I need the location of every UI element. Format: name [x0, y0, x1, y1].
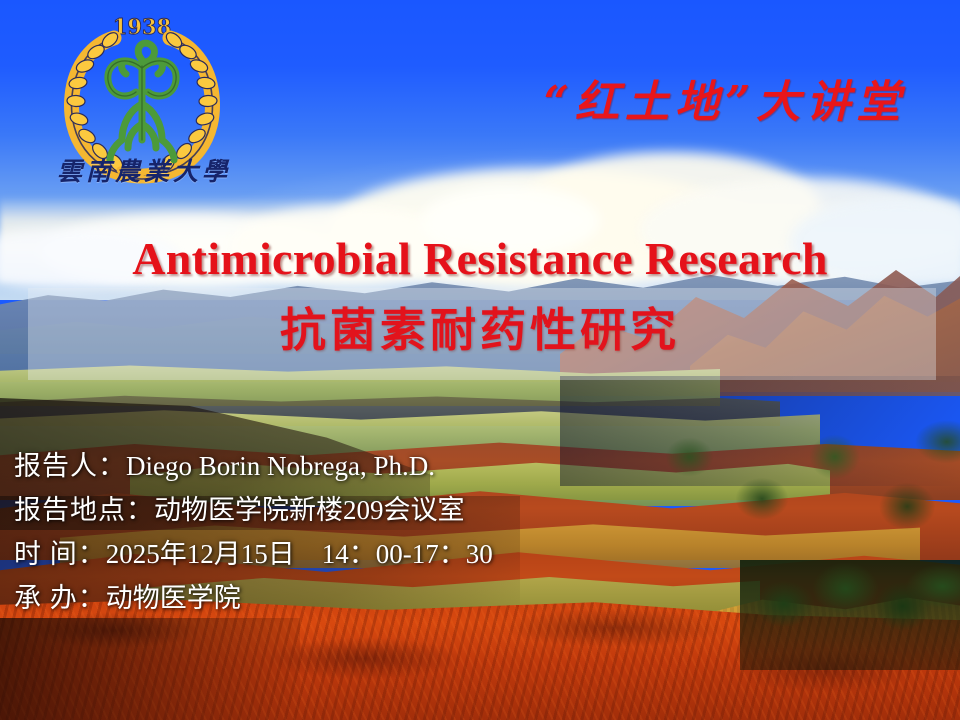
tree-cluster-foreground [740, 560, 960, 670]
university-name-cn: 雲南農業大學 [44, 152, 244, 188]
lecture-series-banner: “红土地”大讲堂 [500, 58, 950, 148]
lecture-poster: 1938 [0, 0, 960, 720]
soil-shadow [0, 618, 300, 720]
detail-label: 承 办： [14, 583, 106, 613]
detail-value: 2025年12月15日 14：00-17：30 [106, 539, 493, 569]
detail-label: 时 间： [14, 539, 106, 569]
detail-label: 报告人： [14, 451, 126, 481]
title-chinese: 抗菌素耐药性研究 [0, 294, 960, 360]
detail-row-speaker: 报告人：Diego Borin Nobrega, Ph.D. [14, 444, 714, 488]
event-details: 报告人：Diego Borin Nobrega, Ph.D. 报告地点：动物医学… [14, 444, 714, 620]
detail-value: 动物医学院新楼209会议室 [154, 495, 465, 525]
detail-value: Diego Borin Nobrega, Ph.D. [126, 451, 435, 481]
detail-row-time: 时 间：2025年12月15日 14：00-17：30 [14, 532, 714, 576]
detail-label: 报告地点： [14, 495, 154, 525]
detail-row-venue: 报告地点：动物医学院新楼209会议室 [14, 488, 714, 532]
svg-text:1938: 1938 [113, 14, 171, 39]
detail-row-organizer: 承 办：动物医学院 [14, 576, 714, 620]
title-english: Antimicrobial Resistance Research [0, 232, 960, 285]
detail-value: 动物医学院 [106, 583, 241, 613]
